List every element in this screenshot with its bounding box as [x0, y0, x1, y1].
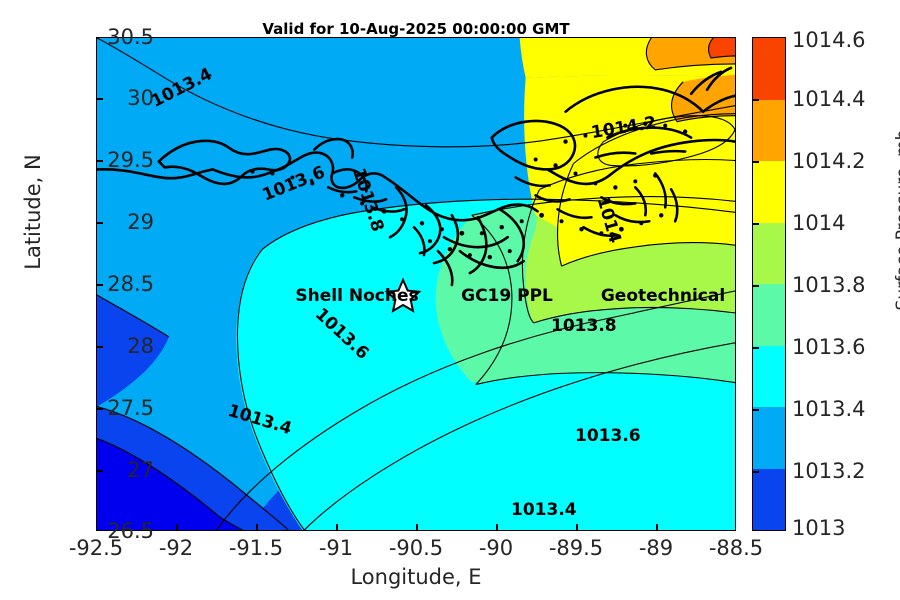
- colorbar-band-1013-2: [753, 469, 785, 531]
- page-title: Valid for 10-Aug-2025 00:00:00 GMT: [96, 20, 736, 38]
- colorbar-tick: [752, 161, 759, 163]
- colorbar-band-1013-8: [753, 284, 785, 346]
- ytick-mark: [96, 346, 103, 348]
- site-label-geotechnical: Geotechnical: [601, 286, 725, 306]
- colorbar-band-1013-4: [753, 407, 785, 469]
- colorbar-title: Surface Pressure, mb: [893, 90, 900, 350]
- colorbar-tick: [752, 285, 759, 287]
- ytick-label-27-5: 27.5: [107, 396, 154, 420]
- colorbar: [752, 37, 786, 531]
- ytick-label-27: 27: [127, 458, 154, 482]
- colorbar-tick: [752, 347, 759, 349]
- ytick-label-28-5: 28.5: [107, 272, 154, 296]
- xtick-mark: [496, 524, 498, 531]
- xtick-mark: [416, 524, 418, 531]
- xtick-mark: [176, 524, 178, 531]
- colorbar-tick: [752, 223, 759, 225]
- colorbar-band-1014-6: [753, 38, 785, 100]
- site-label-shell-noches: Shell Noches: [295, 286, 418, 306]
- colorbar-label-1014-6: 1014.6: [792, 28, 865, 52]
- ytick-label-30-5: 30.5: [107, 25, 154, 49]
- ytick-label-28: 28: [127, 334, 154, 358]
- xtick-label-neg91: -91: [319, 536, 353, 560]
- xtick-label-neg89-5: -89.5: [549, 536, 603, 560]
- colorbar-band-1014-4: [753, 100, 785, 162]
- colorbar-band-1014-2: [753, 161, 785, 223]
- ytick-mark: [96, 470, 103, 472]
- xtick-mark: [256, 524, 258, 531]
- xtick-mark: [576, 524, 578, 531]
- xtick-mark: [656, 524, 658, 531]
- ytick-label-29: 29: [127, 210, 154, 234]
- ytick-mark: [96, 222, 103, 224]
- ytick-mark: [96, 284, 103, 286]
- xtick-label-neg88-5: -88.5: [709, 536, 763, 560]
- colorbar-label-1014: 1014: [792, 211, 845, 235]
- xtick-label-neg91-5: -91.5: [229, 536, 283, 560]
- contour-label-1013-4-s: 1013.4: [511, 500, 577, 520]
- xtick-mark: [336, 524, 338, 531]
- xtick-label-neg92-5: -92.5: [69, 536, 123, 560]
- x-axis-label: Longitude, E: [96, 565, 736, 589]
- colorbar-band-1013-6: [753, 346, 785, 408]
- colorbar-tick: [752, 471, 759, 473]
- colorbar-label-1014-4: 1014.4: [792, 87, 865, 111]
- xtick-label-neg92: -92: [159, 536, 193, 560]
- colorbar-band-1014-0: [753, 223, 785, 285]
- colorbar-band-1013-0: [753, 530, 785, 531]
- ytick-label-30: 30: [127, 86, 154, 110]
- ytick-mark: [96, 98, 103, 100]
- y-axis-label: Latitude, N: [21, 92, 45, 332]
- contour-label-1013-6-se: 1013.6: [575, 426, 641, 446]
- colorbar-label-1014-2: 1014.2: [792, 149, 865, 173]
- xtick-label-neg89: -89: [639, 536, 673, 560]
- xtick-label-neg90-5: -90.5: [389, 536, 443, 560]
- colorbar-label-1013-6: 1013.6: [792, 335, 865, 359]
- ytick-label-29-5: 29.5: [107, 148, 154, 172]
- colorbar-label-1013-8: 1013.8: [792, 273, 865, 297]
- site-label-gc19-ppl: GC19 PPL: [461, 286, 553, 306]
- contour-plot: Shell Noches GC19 PPL Geotechnical 1013.…: [96, 37, 736, 531]
- ytick-mark: [96, 160, 103, 162]
- contour-field: [97, 38, 735, 530]
- colorbar-label-1013-2: 1013.2: [792, 459, 865, 483]
- ytick-mark: [96, 408, 103, 410]
- colorbar-tick: [752, 99, 759, 101]
- xtick-label-neg90: -90: [479, 536, 513, 560]
- colorbar-tick: [752, 409, 759, 411]
- contour-label-1013-8-se: 1013.8: [551, 316, 617, 336]
- colorbar-label-1013: 1013: [792, 516, 845, 540]
- colorbar-label-1013-4: 1013.4: [792, 397, 865, 421]
